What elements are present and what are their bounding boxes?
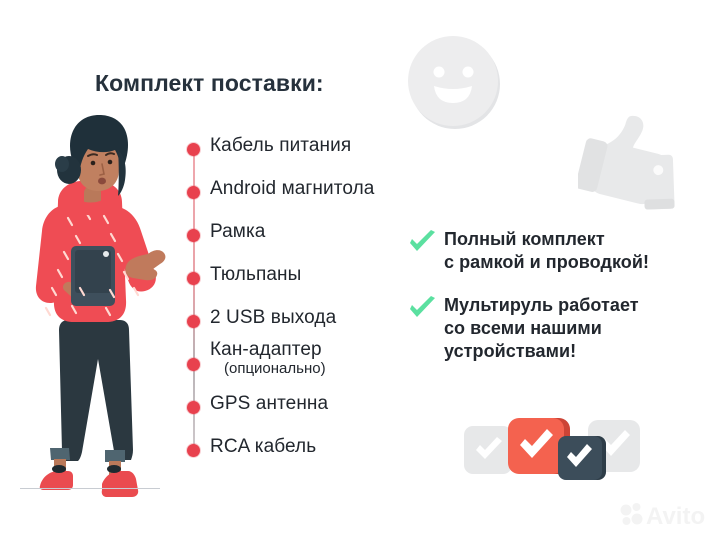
list-item-label: Тюльпаны: [210, 264, 301, 286]
benefit-line: с рамкой и проводкой!: [444, 251, 708, 274]
bullet-dot-icon: [187, 358, 200, 371]
bullet-dot-icon: [187, 186, 200, 199]
list-item-label: Android магнитола: [210, 178, 374, 200]
benefit-item: Полный комплект с рамкой и проводкой!: [408, 228, 708, 274]
list-item-label: Кабель питания: [210, 135, 351, 157]
list-item: GPS антенна: [180, 396, 480, 422]
list-item: Android магнитола: [180, 181, 480, 207]
benefit-line: со всеми нашими: [444, 317, 708, 340]
benefit-item: Мультируль работает со всеми нашими устр…: [408, 294, 708, 363]
list-item-sublabel: (опционально): [224, 360, 326, 377]
green-check-icon: [408, 296, 438, 322]
green-check-icon: [408, 230, 438, 256]
woman-pointing-illustration: [14, 112, 184, 512]
bullet-dot-icon: [187, 315, 200, 328]
benefits-list: Полный комплект с рамкой и проводкой! Му…: [408, 228, 708, 377]
bullet-dot-icon: [187, 229, 200, 242]
list-item-label: RCA кабель: [210, 436, 316, 458]
list-item-label: Рамка: [210, 221, 265, 243]
page-title: Комплект поставки:: [95, 70, 324, 97]
list-item: Кабель питания: [180, 138, 480, 164]
benefit-line: устройствами!: [444, 340, 708, 363]
benefit-text: Полный комплект с рамкой и проводкой!: [444, 228, 708, 274]
benefit-line: Полный комплект: [444, 228, 708, 251]
ground-line: [20, 488, 160, 489]
benefit-text: Мультируль работает со всеми нашими устр…: [444, 294, 708, 363]
bullet-dot-icon: [187, 401, 200, 414]
checkbox-group-icon: [462, 412, 642, 484]
list-item-label: 2 USB выхода: [210, 307, 336, 329]
list-item-label: Кан-адаптер: [210, 339, 322, 361]
bullet-dot-icon: [187, 444, 200, 457]
avito-watermark-text: Avito: [646, 503, 705, 530]
smiley-face-icon: [401, 29, 506, 134]
list-item: RCA кабель: [180, 439, 480, 465]
benefit-line: Мультируль работает: [444, 294, 708, 317]
avito-watermark: Avito: [618, 500, 714, 530]
bullet-dot-icon: [187, 143, 200, 156]
list-item-label: GPS антенна: [210, 393, 328, 415]
bullet-dot-icon: [187, 272, 200, 285]
promo-banner: Комплект поставки: Кабель питания Androi…: [0, 0, 720, 540]
thumbs-up-icon: [578, 108, 688, 212]
